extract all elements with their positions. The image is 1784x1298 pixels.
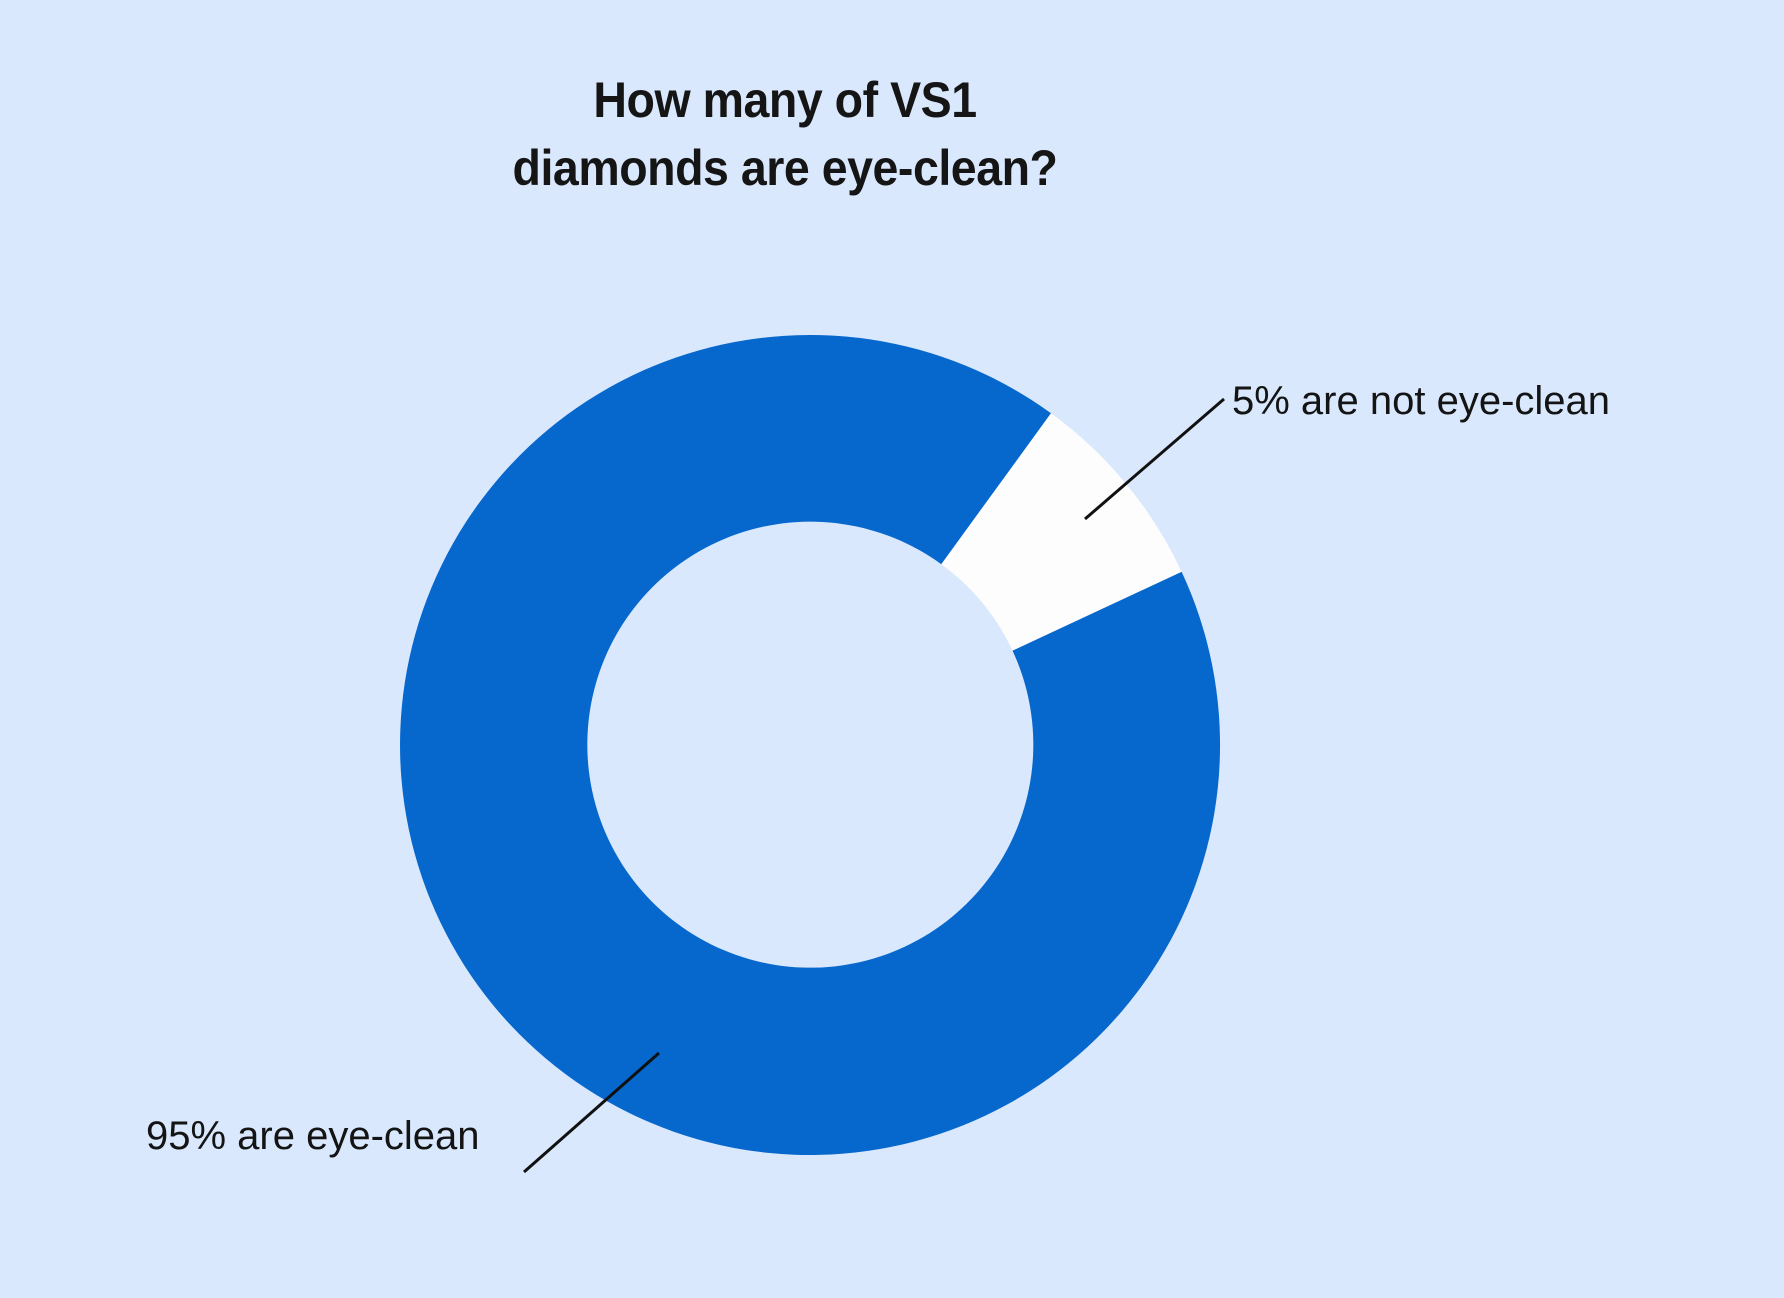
donut-chart-svg bbox=[0, 0, 1784, 1298]
leader-line-not-eye-clean bbox=[1085, 399, 1224, 519]
donut-chart bbox=[0, 0, 1784, 1298]
data-label-not-eye-clean: 5% are not eye-clean bbox=[1232, 378, 1610, 424]
chart-canvas: How many of VS1 diamonds are eye-clean? … bbox=[0, 0, 1784, 1298]
data-label-eye-clean: 95% are eye-clean bbox=[146, 1113, 480, 1159]
